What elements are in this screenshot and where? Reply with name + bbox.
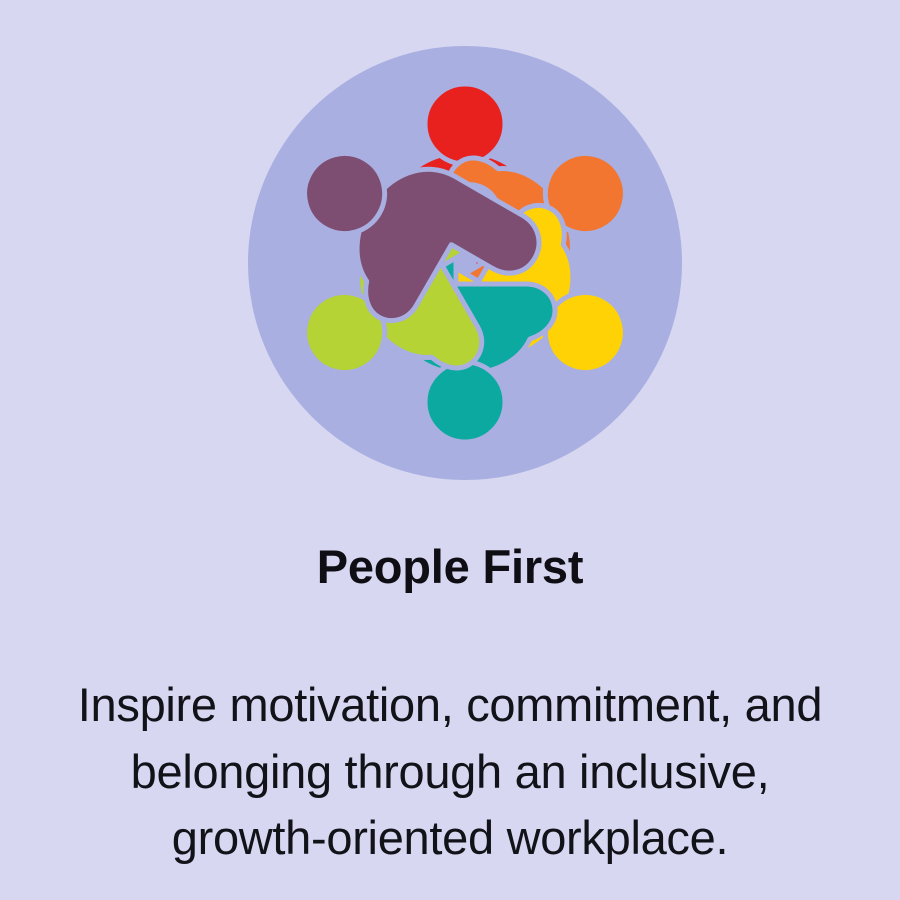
description-line-1: Inspire motivation, commitment, and — [0, 672, 900, 739]
description-line-3: growth-oriented workplace. — [0, 805, 900, 872]
figure-teal-head — [425, 362, 505, 442]
value-card: People First Inspire motivation, commitm… — [0, 0, 900, 900]
people-circle-teamwork-icon — [248, 46, 682, 480]
page-title: People First — [0, 540, 900, 594]
description-line-2: belonging through an inclusive, — [0, 739, 900, 806]
emblem-container — [248, 46, 682, 480]
description-text: Inspire motivation, commitment, and belo… — [0, 672, 900, 872]
figure-red-head — [425, 84, 505, 164]
